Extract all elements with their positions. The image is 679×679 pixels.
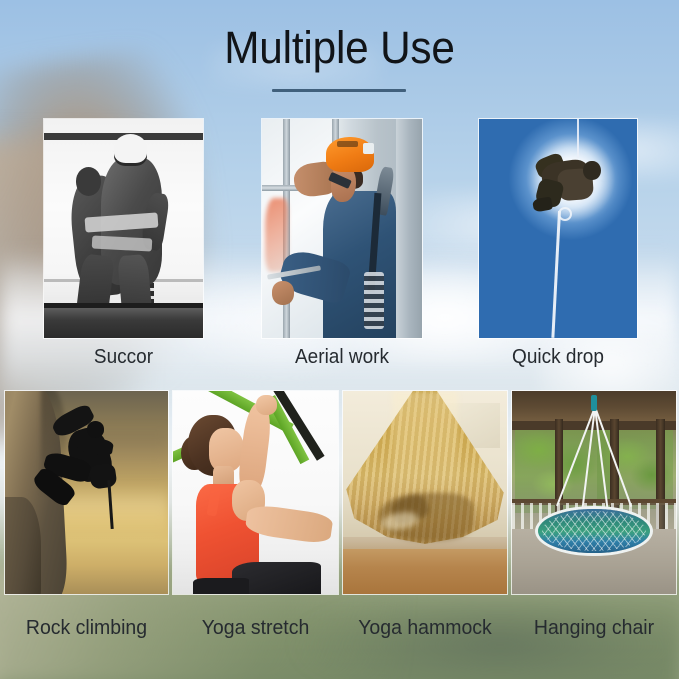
rope-access-worker-photo — [262, 119, 422, 338]
tile-yoga-hammock[interactable] — [343, 391, 507, 594]
hanging-net-chair-photo — [512, 391, 676, 594]
rescue-worker-photo — [44, 119, 203, 338]
caption-yoga-hammock: Yoga hammock — [347, 616, 503, 640]
aerial-yoga-woman-photo — [173, 391, 338, 594]
rappelling-silhouette-photo — [479, 119, 637, 338]
page-title: Multiple Use — [20, 22, 658, 74]
multiple-use-poster: Multiple Use Succor — [0, 0, 679, 679]
rock-climber-silhouette-photo — [5, 391, 168, 594]
tile-yoga-stretch[interactable] — [173, 391, 338, 594]
caption-succor: Succor — [48, 345, 199, 369]
yoga-hammock-photo — [343, 391, 507, 594]
caption-hanging-chair: Hanging chair — [516, 616, 672, 640]
tile-aerial-work[interactable] — [262, 119, 422, 338]
caption-yoga-stretch: Yoga stretch — [177, 616, 334, 640]
tile-quick-drop[interactable] — [479, 119, 637, 338]
caption-rock-climbing: Rock climbing — [9, 616, 164, 640]
caption-aerial-work: Aerial work — [266, 345, 418, 369]
caption-quick-drop: Quick drop — [483, 345, 633, 369]
tile-rock-climbing[interactable] — [5, 391, 168, 594]
tile-succor[interactable] — [44, 119, 203, 338]
title-divider — [272, 89, 406, 92]
tile-hanging-chair[interactable] — [512, 391, 676, 594]
